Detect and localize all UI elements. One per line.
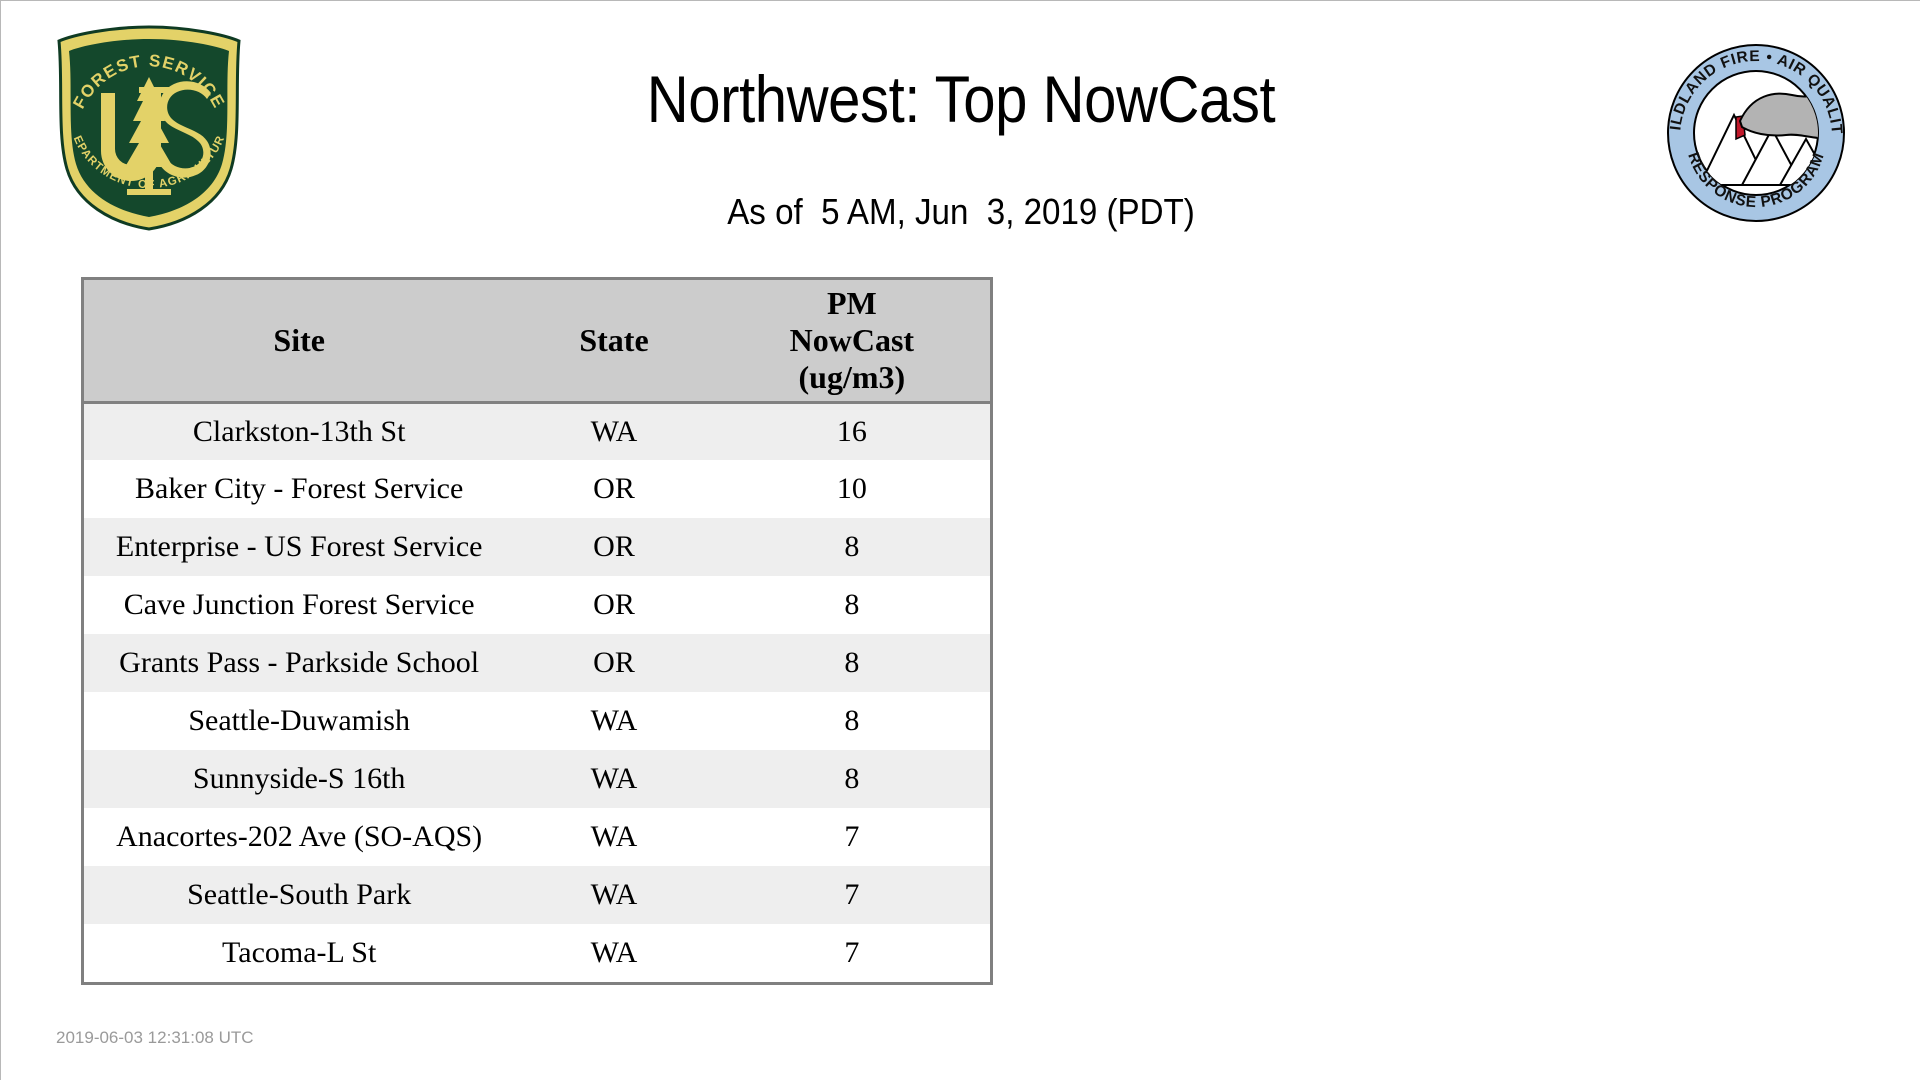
cell-site: Clarkston-13th St (84, 402, 514, 460)
table-row: Cave Junction Forest ServiceOR8 (84, 576, 990, 634)
table-row: Seattle-South ParkWA7 (84, 866, 990, 924)
cell-site: Anacortes-202 Ave (SO-AQS) (84, 808, 514, 866)
cell-state: OR (514, 576, 713, 634)
cell-site: Sunnyside-S 16th (84, 750, 514, 808)
page-subtitle: As of 5 AM, Jun 3, 2019 (PDT) (78, 191, 1844, 233)
cell-site: Seattle-South Park (84, 866, 514, 924)
table-row: Sunnyside-S 16thWA8 (84, 750, 990, 808)
cell-state: OR (514, 460, 713, 518)
cell-pm: 8 (714, 750, 990, 808)
cell-state: WA (514, 402, 713, 460)
column-header-state: State (514, 280, 713, 402)
cell-state: WA (514, 866, 713, 924)
cell-pm: 7 (714, 924, 990, 982)
cell-site: Baker City - Forest Service (84, 460, 514, 518)
cell-pm: 7 (714, 808, 990, 866)
column-header-pm-nowcast: PM NowCast (ug/m3) (714, 280, 990, 402)
cell-site: Enterprise - US Forest Service (84, 518, 514, 576)
table-row: Anacortes-202 Ave (SO-AQS)WA7 (84, 808, 990, 866)
cell-pm: 8 (714, 634, 990, 692)
page-title: Northwest: Top NowCast (116, 61, 1806, 137)
cell-pm: 8 (714, 692, 990, 750)
cell-pm: 10 (714, 460, 990, 518)
cell-pm: 7 (714, 866, 990, 924)
cell-state: WA (514, 750, 713, 808)
table-row: Seattle-DuwamishWA8 (84, 692, 990, 750)
table-row: Baker City - Forest ServiceOR10 (84, 460, 990, 518)
table-header-row: Site State PM NowCast (ug/m3) (84, 280, 990, 402)
cell-pm: 8 (714, 518, 990, 576)
cell-site: Seattle-Duwamish (84, 692, 514, 750)
table-row: Enterprise - US Forest ServiceOR8 (84, 518, 990, 576)
generation-timestamp: 2019-06-03 12:31:08 UTC (56, 1028, 254, 1048)
cell-site: Cave Junction Forest Service (84, 576, 514, 634)
cell-site: Tacoma-L St (84, 924, 514, 982)
cell-pm: 16 (714, 402, 990, 460)
cell-state: WA (514, 924, 713, 982)
nowcast-table: Site State PM NowCast (ug/m3) Clarkston-… (81, 277, 993, 985)
column-header-site: Site (84, 280, 514, 402)
cell-state: OR (514, 634, 713, 692)
table-row: Tacoma-L StWA7 (84, 924, 990, 982)
cell-site: Grants Pass - Parkside School (84, 634, 514, 692)
table-row: Clarkston-13th StWA16 (84, 402, 990, 460)
cell-state: WA (514, 808, 713, 866)
cell-state: WA (514, 692, 713, 750)
table-row: Grants Pass - Parkside SchoolOR8 (84, 634, 990, 692)
report-page: FOREST SERVICE DEPARTMENT OF AGRICULTURE (0, 0, 1920, 1080)
table-body: Clarkston-13th StWA16Baker City - Forest… (84, 402, 990, 982)
cell-state: OR (514, 518, 713, 576)
cell-pm: 8 (714, 576, 990, 634)
